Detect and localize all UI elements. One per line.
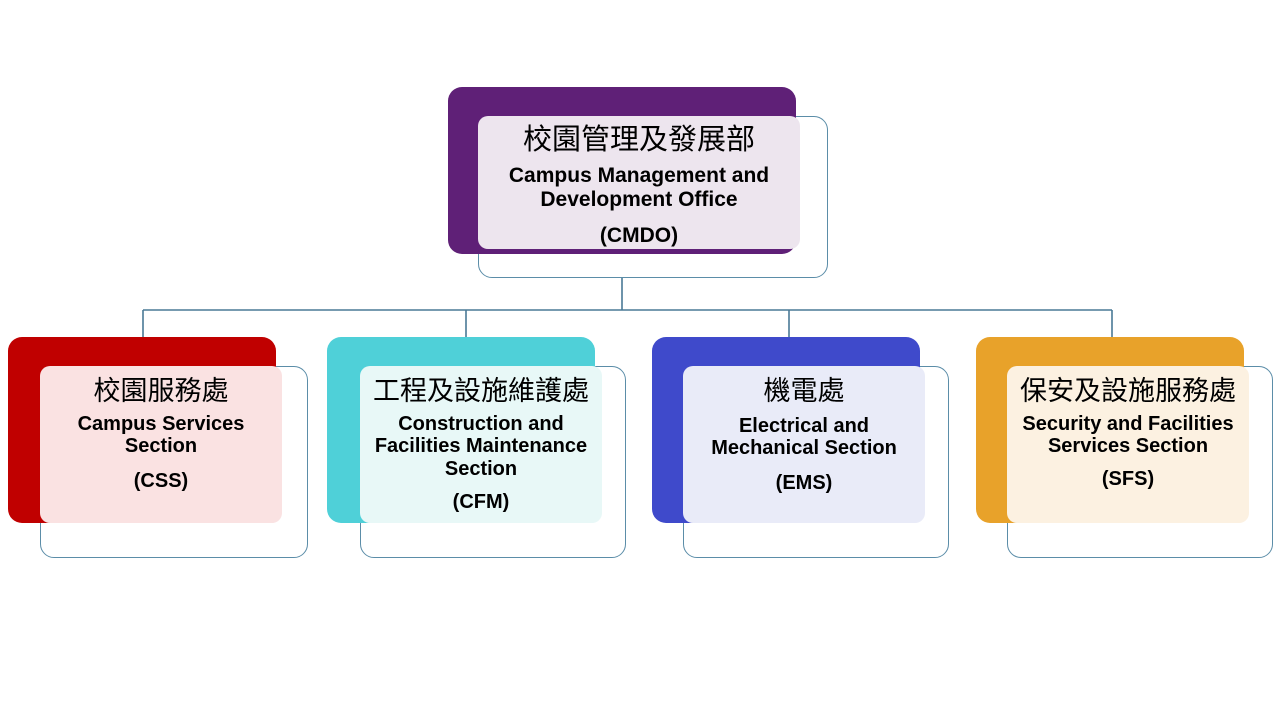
node-content-panel: 機電處 Electrical and Mechanical Section (E… bbox=[683, 366, 925, 523]
node-label-en: Construction and Facilities Maintenance … bbox=[360, 413, 602, 481]
node-label-en: Security and Facilities Services Section bbox=[1007, 413, 1249, 459]
node-label-zh: 工程及設施維護處 bbox=[373, 377, 589, 406]
node-content-panel: 校園管理及發展部 Campus Management and Developme… bbox=[478, 116, 800, 249]
node-label-zh: 校園管理及發展部 bbox=[523, 125, 755, 156]
node-content-panel: 保安及設施服務處 Security and Facilities Service… bbox=[1007, 366, 1249, 523]
node-label-zh: 保安及設施服務處 bbox=[1020, 377, 1236, 406]
node-content-panel: 工程及設施維護處 Construction and Facilities Mai… bbox=[360, 366, 602, 523]
node-label-en: Campus Services Section bbox=[40, 413, 282, 459]
node-label-zh: 機電處 bbox=[764, 377, 845, 406]
node-label-abbr: (CSS) bbox=[134, 470, 188, 493]
node-label-en: Campus Management and Development Office bbox=[478, 164, 800, 212]
node-label-abbr: (SFS) bbox=[1102, 468, 1154, 491]
node-label-abbr: (EMS) bbox=[776, 472, 833, 495]
node-label-zh: 校園服務處 bbox=[94, 377, 229, 406]
org-chart: 校園管理及發展部 Campus Management and Developme… bbox=[0, 0, 1280, 720]
node-label-abbr: (CMDO) bbox=[600, 224, 678, 248]
node-content-panel: 校園服務處 Campus Services Section (CSS) bbox=[40, 366, 282, 523]
node-label-en: Electrical and Mechanical Section bbox=[683, 415, 925, 461]
node-label-abbr: (CFM) bbox=[453, 491, 510, 514]
